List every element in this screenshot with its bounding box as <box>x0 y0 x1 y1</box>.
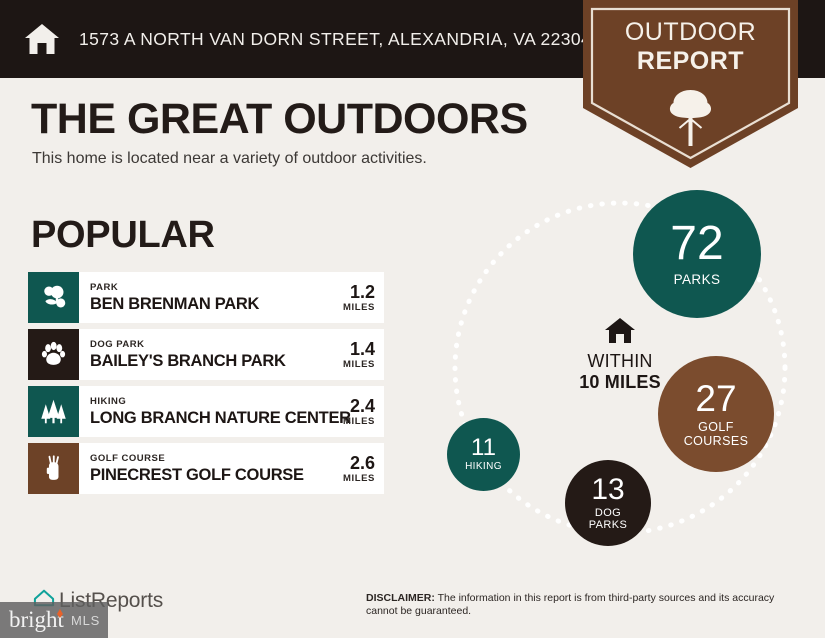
list-item-distance: 1.4 MILES <box>324 329 384 380</box>
popular-list: PARK BEN BRENMAN PARK 1.2 MILES <box>28 272 384 500</box>
list-item-name: BEN BRENMAN PARK <box>90 294 324 314</box>
home-icon <box>604 333 636 350</box>
badge-line-1: OUTDOOR <box>583 18 798 47</box>
list-item-name: PINECREST GOLF COURSE <box>90 465 324 485</box>
list-item-distance: 1.2 MILES <box>324 272 384 323</box>
list-item-category: GOLF COURSE <box>90 453 324 465</box>
distance-value: 2.4 <box>350 396 375 416</box>
disclaimer: DISCLAIMER: The information in this repo… <box>366 592 791 618</box>
list-item-category: DOG PARK <box>90 339 324 351</box>
badge-line-2: REPORT <box>583 47 798 76</box>
bubble-golf-label-line2: COURSES <box>684 434 749 448</box>
bubble-dog-value: 13 <box>591 475 624 505</box>
list-item[interactable]: GOLF COURSE PINECREST GOLF COURSE 2.6 MI… <box>28 443 384 494</box>
outdoor-report-page: 1573 A NORTH VAN DORN STREET, ALEXANDRIA… <box>0 0 825 638</box>
paw-print-icon <box>28 329 79 380</box>
bubble-hiking-label: HIKING <box>465 462 502 473</box>
amenities-bubble-chart: 72 PARKS 27 GOLF COURSES 13 DOG PARKS 11… <box>415 178 825 573</box>
bubble-parks-label: PARKS <box>674 273 721 288</box>
list-item[interactable]: DOG PARK BAILEY'S BRANCH PARK 1.4 MILES <box>28 329 384 380</box>
page-title: THE GREAT OUTDOORS <box>31 95 528 144</box>
list-item-category: HIKING <box>90 396 324 408</box>
list-item[interactable]: HIKING LONG BRANCH NATURE CENTER 2.4 MIL… <box>28 386 384 437</box>
bubble-dog-label: DOG PARKS <box>589 508 627 532</box>
center-label-line1: WITHIN <box>555 351 685 372</box>
bubble-hiking-value: 11 <box>471 436 496 460</box>
distance-value: 2.6 <box>350 453 375 473</box>
center-label-line2: 10 MILES <box>555 372 685 393</box>
bubble-dog-label-line2: PARKS <box>589 519 627 531</box>
bubble-golf-label: GOLF COURSES <box>684 421 749 448</box>
list-item-distance: 2.4 MILES <box>324 386 384 437</box>
bubble-hiking[interactable]: 11 HIKING <box>447 418 520 491</box>
park-trees-icon <box>28 272 79 323</box>
distance-value: 1.2 <box>350 282 375 302</box>
list-item-name: BAILEY'S BRANCH PARK <box>90 351 324 371</box>
pine-trees-icon <box>28 386 79 437</box>
outdoor-report-badge: OUTDOOR REPORT <box>583 0 798 168</box>
bubble-dog-label-line1: DOG <box>595 507 621 519</box>
chart-center-marker: WITHIN 10 MILES <box>555 316 685 393</box>
disclaimer-label: DISCLAIMER: <box>366 592 435 604</box>
watermark-suffix: MLS <box>71 613 100 628</box>
list-item-category: PARK <box>90 282 324 294</box>
list-item-distance: 2.6 MILES <box>324 443 384 494</box>
list-item-body: PARK BEN BRENMAN PARK <box>79 272 324 323</box>
bubble-golf-value: 27 <box>695 380 736 417</box>
distance-unit: MILES <box>343 302 375 313</box>
bubble-parks-value: 72 <box>670 220 723 268</box>
bubble-golf-label-line1: GOLF <box>698 420 734 434</box>
home-icon <box>22 19 62 59</box>
bubble-parks[interactable]: 72 PARKS <box>633 190 761 318</box>
bright-mls-watermark: bright MLS <box>0 602 108 638</box>
badge-title: OUTDOOR REPORT <box>583 18 798 76</box>
golf-bag-icon <box>28 443 79 494</box>
property-address: 1573 A NORTH VAN DORN STREET, ALEXANDRIA… <box>79 29 591 50</box>
list-item-name: LONG BRANCH NATURE CENTER <box>90 408 324 428</box>
distance-unit: MILES <box>343 473 375 484</box>
distance-unit: MILES <box>343 416 375 427</box>
page-subtitle: This home is located near a variety of o… <box>32 150 427 168</box>
distance-value: 1.4 <box>350 339 375 359</box>
list-item-body: GOLF COURSE PINECREST GOLF COURSE <box>79 443 324 494</box>
list-item-body: HIKING LONG BRANCH NATURE CENTER <box>79 386 324 437</box>
list-item[interactable]: PARK BEN BRENMAN PARK 1.2 MILES <box>28 272 384 323</box>
watermark-brand: bright <box>9 607 64 633</box>
bubble-dog-parks[interactable]: 13 DOG PARKS <box>565 460 651 546</box>
list-item-body: DOG PARK BAILEY'S BRANCH PARK <box>79 329 324 380</box>
popular-heading: POPULAR <box>31 214 215 257</box>
watermark-brand-text: bright <box>9 607 64 632</box>
distance-unit: MILES <box>343 359 375 370</box>
